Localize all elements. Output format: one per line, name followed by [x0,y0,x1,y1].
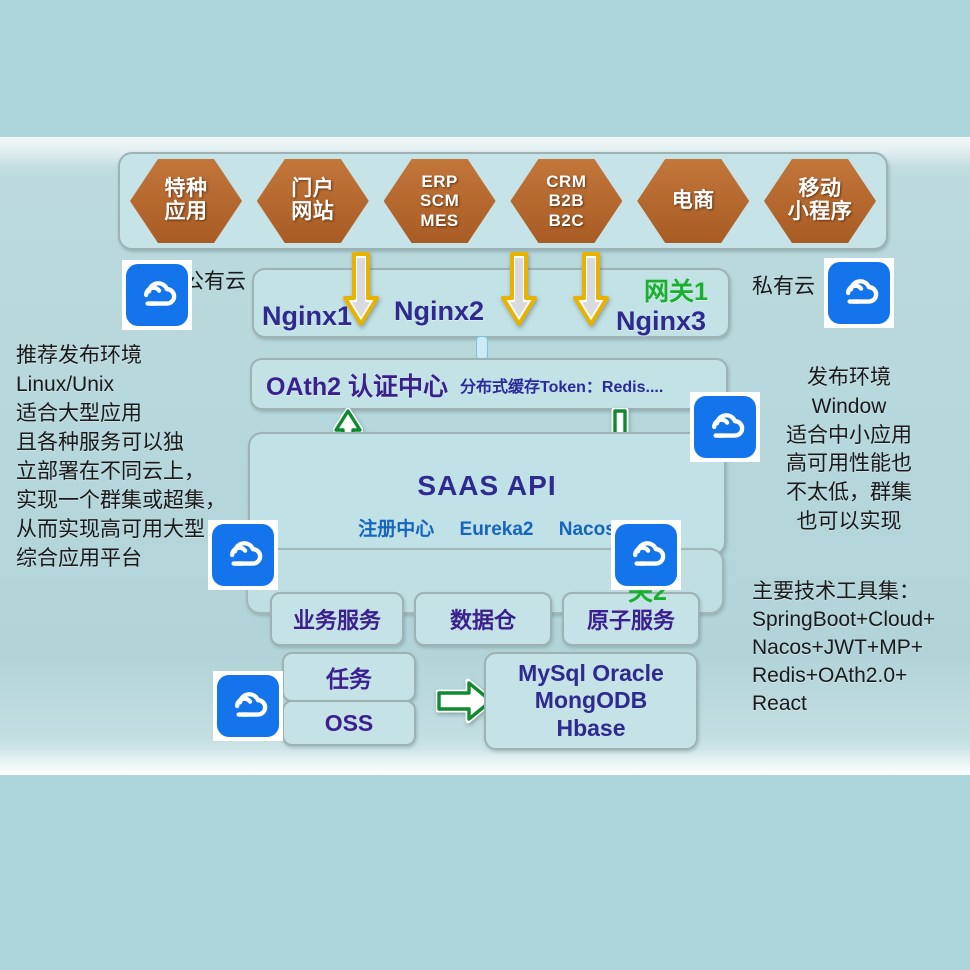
cloud-icon [690,392,760,462]
service-box-business[interactable]: 业务服务 [270,592,404,646]
app-hexagon[interactable]: 移动 小程序 [764,159,876,243]
service-box-oss[interactable]: OSS [282,700,416,746]
cloud-icon [208,520,278,590]
nginx2-label: Nginx2 [394,296,484,327]
diagram-canvas: 特种 应用 门户 网站 ERP SCM MES CRM B2B B2C 电商 移… [0,0,970,970]
arrow-down-icon [501,252,537,328]
right-note: 发布环境 Window 适合中小应用 高可用性能也 不太低，群集 也可以实现 [786,364,912,537]
left-note: 推荐发布环境 Linux/Unix 适合大型应用 且各种服务可以独 立部署在不同… [16,342,226,574]
app-hexagon-label: 门户 网站 [287,178,338,223]
registry-label: 注册中心 [358,519,434,540]
nginx3-label: Nginx3 [616,306,706,337]
service-box-label: OSS [325,710,374,737]
cloud-icon [824,258,894,328]
app-hexagon-label: ERP SCM MES [416,172,463,229]
service-box-label: 数据仓 [450,603,516,635]
gateway1-label: 网关1 [644,272,708,308]
database-box[interactable]: MySql Oracle MongODB Hbase [484,652,698,750]
app-hexagon-label: 电商 [668,190,719,213]
oauth2-title: OAth2 认证中心 [266,367,448,403]
registry-item-nacos: Nacos [559,519,616,540]
app-hexagon[interactable]: 特种 应用 [130,159,242,243]
nginx1-label: Nginx1 [262,301,352,332]
app-hexagon-label: 特种 应用 [161,178,212,223]
service-box-task[interactable]: 任务 [282,652,416,702]
service-box-datawarehouse[interactable]: 数据仓 [414,592,552,646]
service-box-label: 业务服务 [293,603,381,635]
arrow-down-icon [343,252,379,328]
app-hexagon[interactable]: 电商 [637,159,749,243]
tech-stack-note: 主要技术工具集： SpringBoot+Cloud+ Nacos+JWT+MP+… [752,578,935,718]
applications-strip: 特种 应用 门户 网站 ERP SCM MES CRM B2B B2C 电商 移… [118,152,888,250]
app-hexagon-label: 移动 小程序 [784,178,857,223]
cloud-icon [213,671,283,741]
saas-api-title: SAAS API [250,470,724,502]
gateway1-nginx-panel: Nginx1 Nginx2 Nginx3 网关1 [252,268,730,338]
arrow-down-icon [573,252,609,328]
cloud-icon [122,260,192,330]
redis-token-note: 分布式缓存Token：Redis.... [460,373,663,397]
private-cloud-label: 私有云 [752,270,815,300]
app-hexagon-label: CRM B2B B2C [542,172,590,229]
public-cloud-label: 公有云 [183,265,246,295]
app-hexagon[interactable]: 门户 网站 [257,159,369,243]
database-box-label: MySql Oracle MongODB Hbase [518,660,664,741]
registry-item-eureka2: Eureka2 [460,519,534,540]
oauth2-panel: OAth2 认证中心 分布式缓存Token：Redis.... [250,358,728,410]
app-hexagon[interactable]: CRM B2B B2C [510,159,622,243]
service-box-label: 任务 [326,660,372,694]
connector-nub [476,336,488,360]
cloud-icon [611,520,681,590]
app-hexagon[interactable]: ERP SCM MES [384,159,496,243]
